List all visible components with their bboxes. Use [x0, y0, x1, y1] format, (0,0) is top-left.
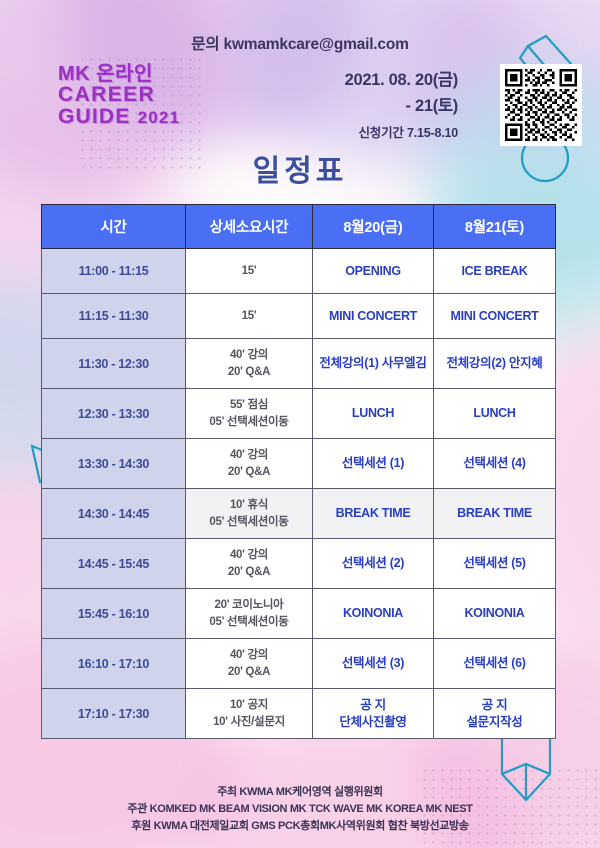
table-row: 11:15 - 11:3015'MINI CONCERTMINI CONCERT [42, 294, 556, 339]
table-row: 15:45 - 16:1020' 코이노니아05' 선택세션이동KOINONIA… [42, 589, 556, 639]
contact-email-line: 문의 kwmamkcare@gmail.com [0, 32, 600, 54]
application-period: 신청기간 7.15-8.10 [345, 122, 458, 141]
cell-friday: 선택세션 (2) [313, 539, 434, 589]
column-header-friday: 8월20(금) [313, 205, 434, 249]
cell-friday: 선택세션 (1) [313, 439, 434, 489]
table-row: 17:10 - 17:3010' 공지10' 사진/설문지공 지단체사진촬영공 … [42, 689, 556, 739]
cell-friday: 선택세션 (3) [313, 639, 434, 689]
table-row: 13:30 - 14:3040' 강의20' Q&A선택세션 (1)선택세션 (… [42, 439, 556, 489]
event-logo: MK 온라인 CAREER GUIDE 2021 [58, 64, 180, 127]
cell-time: 12:30 - 13:30 [42, 389, 186, 439]
table-row: 14:45 - 15:4540' 강의20' Q&A선택세션 (2)선택세션 (… [42, 539, 556, 589]
cell-saturday: 선택세션 (6) [434, 639, 556, 689]
cell-duration: 40' 강의20' Q&A [186, 339, 313, 389]
cell-duration: 15' [186, 294, 313, 339]
footer-line-organizer: 주관 KOMKED MK BEAM VISION MK TCK WAVE MK … [0, 801, 600, 818]
cell-saturday: 공 지설문지작성 [434, 689, 556, 739]
event-date-line-2: - 21(토) [345, 92, 458, 116]
cell-time: 16:10 - 17:10 [42, 639, 186, 689]
cell-saturday: 선택세션 (4) [434, 439, 556, 489]
contact-email-address: kwmamkcare@gmail.com [224, 36, 409, 53]
table-row: 16:10 - 17:1040' 강의20' Q&A선택세션 (3)선택세션 (… [42, 639, 556, 689]
qr-code[interactable] [500, 64, 582, 146]
table-header-row: 시간 상세소요시간 8월20(금) 8월21(토) [42, 205, 556, 249]
cell-duration: 40' 강의20' Q&A [186, 639, 313, 689]
schedule-table-body: 11:00 - 11:1515'OPENINGICE BREAK11:15 - … [42, 249, 556, 739]
cell-duration: 10' 휴식05' 선택세션이동 [186, 489, 313, 539]
cell-friday: LUNCH [313, 389, 434, 439]
event-date-line-1: 2021. 08. 20(금) [345, 66, 458, 90]
cell-saturday: LUNCH [434, 389, 556, 439]
table-row: 11:00 - 11:1515'OPENINGICE BREAK [42, 249, 556, 294]
cell-duration: 40' 강의20' Q&A [186, 439, 313, 489]
cell-friday: BREAK TIME [313, 489, 434, 539]
logo-line-2: CAREER [58, 84, 180, 105]
schedule-table: 시간 상세소요시간 8월20(금) 8월21(토) 11:00 - 11:151… [41, 204, 556, 739]
cell-time: 11:15 - 11:30 [42, 294, 186, 339]
cell-time: 13:30 - 14:30 [42, 439, 186, 489]
footer-line-host: 주최 KWMA MK케어영역 실행위원회 [0, 784, 600, 801]
cell-friday: KOINONIA [313, 589, 434, 639]
cell-time: 17:10 - 17:30 [42, 689, 186, 739]
footer-line-support: 후원 KWMA 대전제일교회 GMS PCK총회MK사역위원회 협찬 북방선교방… [0, 818, 600, 835]
page-title: 일정표 [0, 146, 600, 190]
cell-saturday: 선택세션 (5) [434, 539, 556, 589]
cell-friday: 전체강의(1) 사무엘김 [313, 339, 434, 389]
cell-friday: MINI CONCERT [313, 294, 434, 339]
contact-label: 문의 [191, 36, 219, 53]
table-row: 12:30 - 13:3055' 점심05' 선택세션이동LUNCHLUNCH [42, 389, 556, 439]
cell-duration: 55' 점심05' 선택세션이동 [186, 389, 313, 439]
cell-time: 14:45 - 15:45 [42, 539, 186, 589]
table-row: 11:30 - 12:3040' 강의20' Q&A전체강의(1) 사무엘김전체… [42, 339, 556, 389]
column-header-saturday: 8월21(토) [434, 205, 556, 249]
logo-line-3: GUIDE [58, 105, 131, 128]
cell-saturday: BREAK TIME [434, 489, 556, 539]
cell-saturday: KOINONIA [434, 589, 556, 639]
logo-line-1: MK 온라인 [58, 64, 180, 84]
cell-duration: 10' 공지10' 사진/설문지 [186, 689, 313, 739]
logo-year: 2021 [138, 108, 181, 127]
qr-code-image [505, 69, 577, 141]
table-row: 14:30 - 14:4510' 휴식05' 선택세션이동BREAK TIMEB… [42, 489, 556, 539]
cell-time: 14:30 - 14:45 [42, 489, 186, 539]
column-header-time: 시간 [42, 205, 186, 249]
cell-friday: 공 지단체사진촬영 [313, 689, 434, 739]
cell-time: 11:30 - 12:30 [42, 339, 186, 389]
cell-time: 15:45 - 16:10 [42, 589, 186, 639]
cell-saturday: ICE BREAK [434, 249, 556, 294]
cell-duration: 40' 강의20' Q&A [186, 539, 313, 589]
sponsor-footer: 주최 KWMA MK케어영역 실행위원회 주관 KOMKED MK BEAM V… [0, 784, 600, 835]
cell-saturday: MINI CONCERT [434, 294, 556, 339]
cell-time: 11:00 - 11:15 [42, 249, 186, 294]
event-date-block: 2021. 08. 20(금) - 21(토) 신청기간 7.15-8.10 [345, 66, 458, 141]
cell-saturday: 전체강의(2) 안지혜 [434, 339, 556, 389]
cell-friday: OPENING [313, 249, 434, 294]
cell-duration: 20' 코이노니아05' 선택세션이동 [186, 589, 313, 639]
schedule-table-wrapper: 시간 상세소요시간 8월20(금) 8월21(토) 11:00 - 11:151… [41, 204, 555, 739]
column-header-duration: 상세소요시간 [186, 205, 313, 249]
cell-duration: 15' [186, 249, 313, 294]
